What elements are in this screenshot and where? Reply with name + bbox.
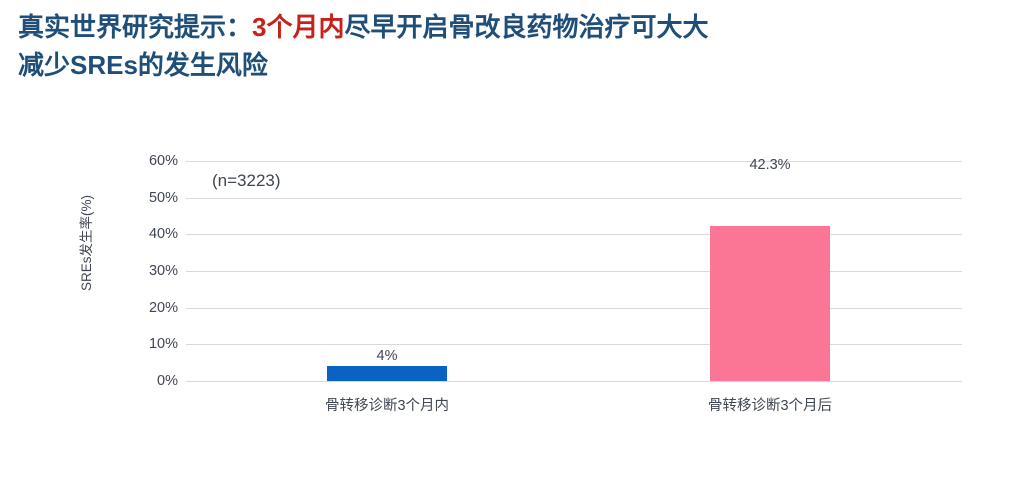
sample-size-annotation: (n=3223) — [212, 171, 281, 191]
x-category-label-1: 骨转移诊断3个月内 — [325, 394, 449, 415]
title-segment-1: 真实世界研究提示： — [18, 12, 252, 42]
title-segment-2: 尽早开启骨改良药物治疗可大大 — [344, 12, 708, 42]
bar-chart: SREs发生率(%) 0% 10% 20% 30% 40% 50% 60% (n… — [0, 96, 1018, 433]
title-highlight-3months: 3个月内 — [252, 12, 344, 42]
title-line-2: 减少SREs的发生风险 — [18, 50, 268, 80]
labels-layer: (n=3223) 4% 42.3% 骨转移诊断3个月内 骨转移诊断3个月后 — [0, 96, 1018, 433]
x-category-label-2: 骨转移诊断3个月后 — [708, 394, 832, 415]
bar-value-label-2: 42.3% — [749, 157, 790, 173]
page-title: 真实世界研究提示：3个月内尽早开启骨改良药物治疗可大大减少SREs的发生风险 — [18, 8, 978, 84]
bar-value-label-1: 4% — [377, 348, 398, 364]
